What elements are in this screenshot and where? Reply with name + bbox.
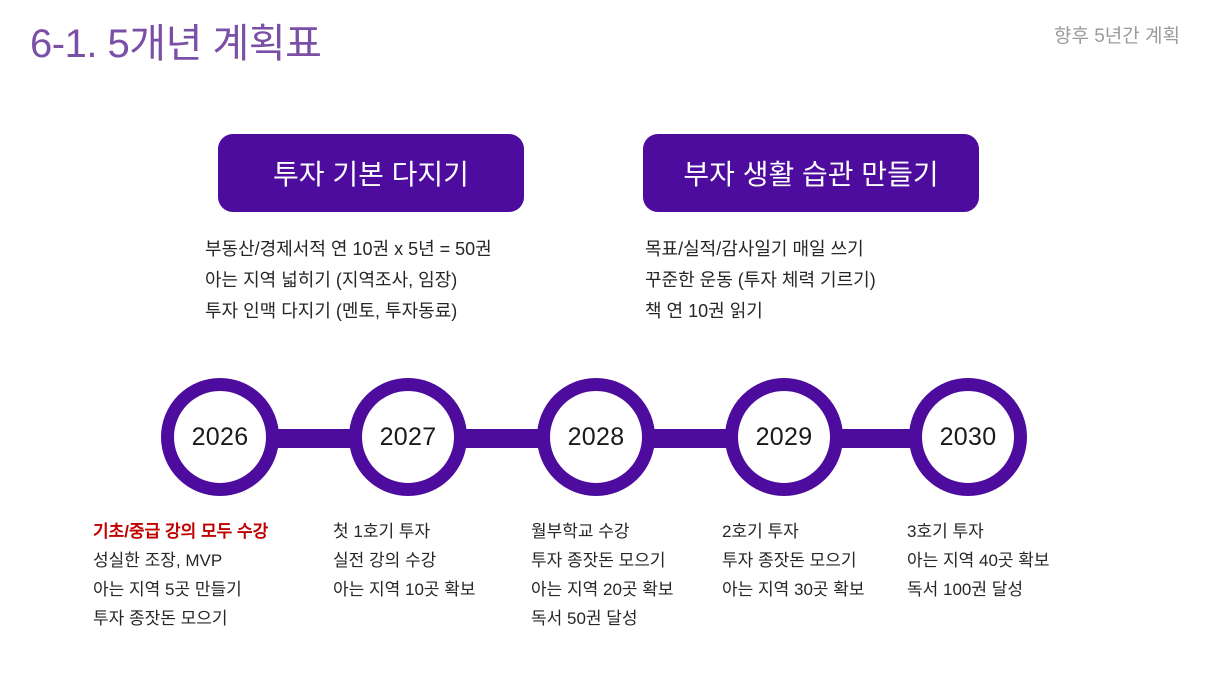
slide-canvas: 6-1. 5개년 계획표 향후 5년간 계획 투자 기본 다지기 부자 생활 습… (0, 0, 1216, 684)
year-detail-item: 월부학교 수강 (531, 517, 674, 546)
year-detail-item: 독서 100권 달성 (907, 575, 1050, 604)
year-detail-item: 독서 50권 달성 (531, 604, 674, 633)
year-detail-item: 성실한 조장, MVP (93, 546, 268, 575)
pillar-item: 아는 지역 넓히기 (지역조사, 임장) (205, 265, 492, 296)
year-detail-item: 아는 지역 30곳 확보 (722, 575, 865, 604)
year-detail-item: 첫 1호기 투자 (333, 517, 476, 546)
timeline-node-2028[interactable]: 2028 (537, 378, 655, 496)
pillar-heading-label: 부자 생활 습관 만들기 (683, 153, 938, 193)
timeline-connector (272, 429, 356, 448)
pillar-item: 목표/실적/감사일기 매일 쓰기 (645, 234, 876, 265)
timeline-node-year: 2026 (192, 423, 249, 452)
year-detail-item: 아는 지역 5곳 만들기 (93, 575, 268, 604)
timeline-connector (460, 429, 544, 448)
pillar-item: 투자 인맥 다지기 (멘토, 투자동료) (205, 296, 492, 327)
timeline-node-2026[interactable]: 2026 (161, 378, 279, 496)
timeline-node-2030[interactable]: 2030 (909, 378, 1027, 496)
pillar-item: 부동산/경제서적 연 10권 x 5년 = 50권 (205, 234, 492, 265)
year-detail-item: 실전 강의 수강 (333, 546, 476, 575)
timeline-node-year: 2027 (380, 423, 437, 452)
pillar-item: 책 연 10권 읽기 (645, 296, 876, 327)
timeline-node-2029[interactable]: 2029 (725, 378, 843, 496)
year-detail-item: 투자 종잣돈 모으기 (531, 546, 674, 575)
year-detail-item: 기초/중급 강의 모두 수강 (93, 517, 268, 546)
year-detail-item: 투자 종잣돈 모으기 (93, 604, 268, 633)
pillar-heading-investment-basics: 투자 기본 다지기 (218, 134, 524, 212)
timeline-connector (648, 429, 732, 448)
pillar-item: 꾸준한 운동 (투자 체력 기르기) (645, 265, 876, 296)
pillar-items-rich-habits: 목표/실적/감사일기 매일 쓰기 꾸준한 운동 (투자 체력 기르기) 책 연 … (645, 234, 876, 327)
timeline-node-year: 2028 (568, 423, 625, 452)
pillar-heading-label: 투자 기본 다지기 (273, 153, 469, 193)
timeline-node-year: 2030 (940, 423, 997, 452)
timeline-node-2027[interactable]: 2027 (349, 378, 467, 496)
page-title: 6-1. 5개년 계획표 (30, 18, 321, 70)
year-details-2029: 2호기 투자 투자 종잣돈 모으기 아는 지역 30곳 확보 (722, 517, 865, 604)
header-note: 향후 5년간 계획 (1054, 24, 1180, 50)
year-details-2028: 월부학교 수강 투자 종잣돈 모으기 아는 지역 20곳 확보 독서 50권 달… (531, 517, 674, 633)
pillar-items-investment-basics: 부동산/경제서적 연 10권 x 5년 = 50권 아는 지역 넓히기 (지역조… (205, 234, 492, 327)
year-details-2027: 첫 1호기 투자 실전 강의 수강 아는 지역 10곳 확보 (333, 517, 476, 604)
year-detail-item: 2호기 투자 (722, 517, 865, 546)
year-detail-item: 3호기 투자 (907, 517, 1050, 546)
pillar-heading-rich-habits: 부자 생활 습관 만들기 (643, 134, 979, 212)
timeline: 2026 2027 2028 2029 2030 (0, 378, 1216, 500)
year-detail-item: 투자 종잣돈 모으기 (722, 546, 865, 575)
timeline-connector (836, 429, 916, 448)
year-details-2030: 3호기 투자 아는 지역 40곳 확보 독서 100권 달성 (907, 517, 1050, 604)
year-detail-item: 아는 지역 20곳 확보 (531, 575, 674, 604)
year-details-2026: 기초/중급 강의 모두 수강 성실한 조장, MVP 아는 지역 5곳 만들기 … (93, 517, 268, 633)
timeline-node-year: 2029 (756, 423, 813, 452)
year-detail-item: 아는 지역 10곳 확보 (333, 575, 476, 604)
year-detail-item: 아는 지역 40곳 확보 (907, 546, 1050, 575)
